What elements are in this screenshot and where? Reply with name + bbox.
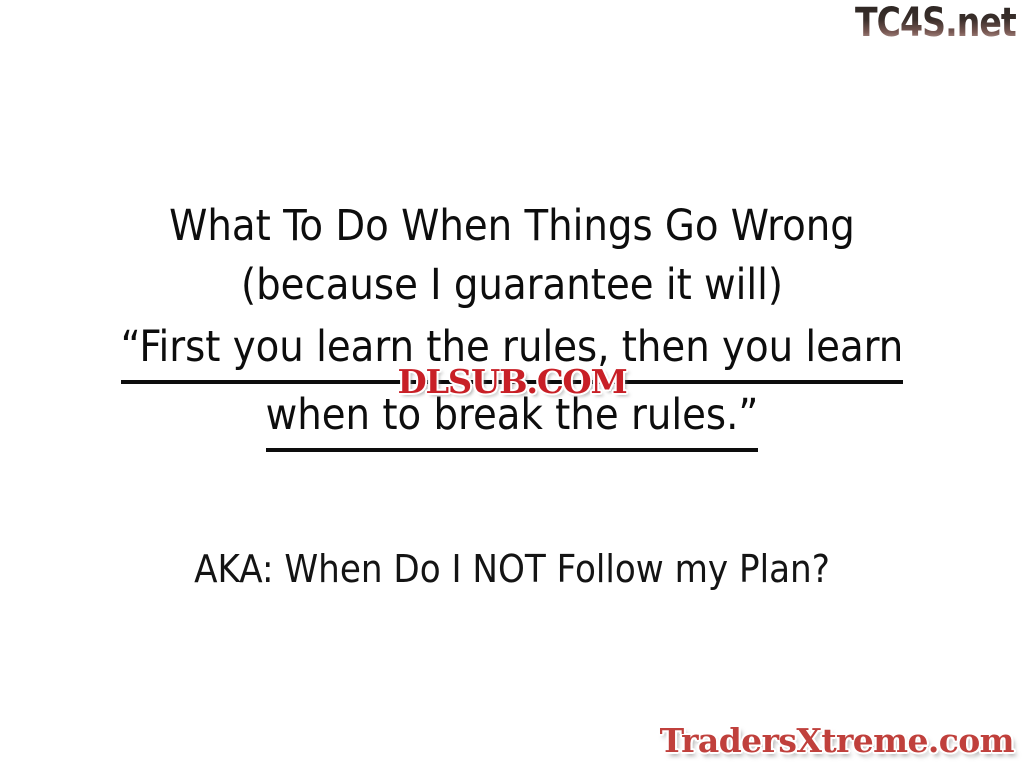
tradersxtreme-wordmark-logo: TradersXtreme.com xyxy=(660,722,1014,760)
aka-question-line: AKA: When Do I NOT Follow my Plan? xyxy=(0,545,1024,593)
tc4s-wordmark-logo: TC4S.net xyxy=(855,2,1016,44)
slide-title-block: What To Do When Things Go Wrong (because… xyxy=(0,198,1024,452)
title-line-2: (because I guarantee it will) xyxy=(0,254,1024,316)
title-line-1: What To Do When Things Go Wrong xyxy=(0,198,1024,254)
slide-canvas: TC4S.net What To Do When Things Go Wrong… xyxy=(0,0,1024,768)
dlsub-watermark: DLSUB.COM xyxy=(397,364,626,400)
